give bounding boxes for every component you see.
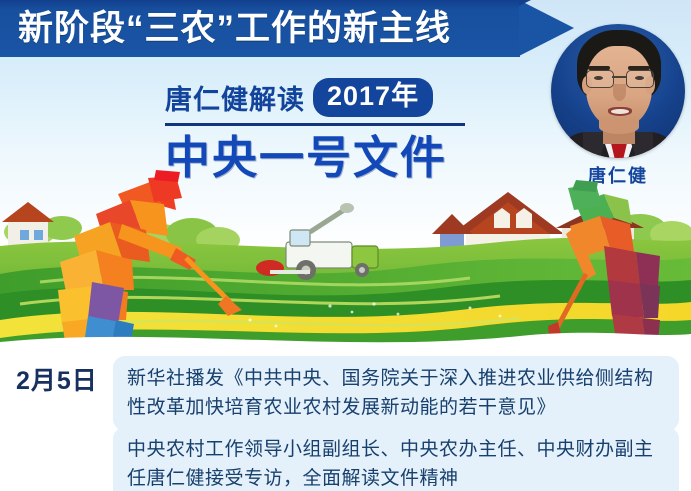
portrait-chin (599, 120, 639, 134)
portrait-teeth (611, 109, 629, 114)
infographic-poster: 新阶段“三农”工作的新主线 唐仁健解读 2017年 中央一号文件 (0, 0, 691, 491)
scene-svg (0, 170, 691, 350)
portrait-nose (613, 84, 626, 101)
glasses-bridge (612, 76, 626, 78)
portrait-mouth (608, 107, 632, 116)
portrait: 唐仁健 (551, 24, 685, 158)
date-label: 2月5日 (16, 361, 98, 397)
headline-deck-row: 唐仁健解读 2017年 (165, 76, 485, 118)
rural-farmland-scene (0, 170, 691, 350)
farmhouse-left (2, 202, 54, 246)
glasses-lens-left (586, 70, 614, 88)
info-box-publication: 新华社播发《中共中央、国务院关于深入推进农业供给侧结构性改革加快培育农业农村发展… (113, 356, 679, 431)
headline-block: 唐仁健解读 2017年 中央一号文件 (165, 76, 485, 184)
headline-deck-text: 唐仁健解读 (165, 78, 305, 117)
harvester-machine (256, 203, 378, 280)
banner-title-text: 新阶段“三农”工作的新主线 (18, 3, 538, 55)
headline-divider (165, 123, 465, 126)
portrait-photo (551, 24, 685, 158)
info-box-interview: 中央农村工作领导小组副组长、中央农办主任、中央财办副主任唐仁健接受专访，全面解读… (113, 427, 679, 491)
glasses-lens-right (626, 70, 654, 88)
title-banner: 新阶段“三农”工作的新主线 (0, 0, 580, 57)
year-badge: 2017年 (313, 78, 433, 117)
